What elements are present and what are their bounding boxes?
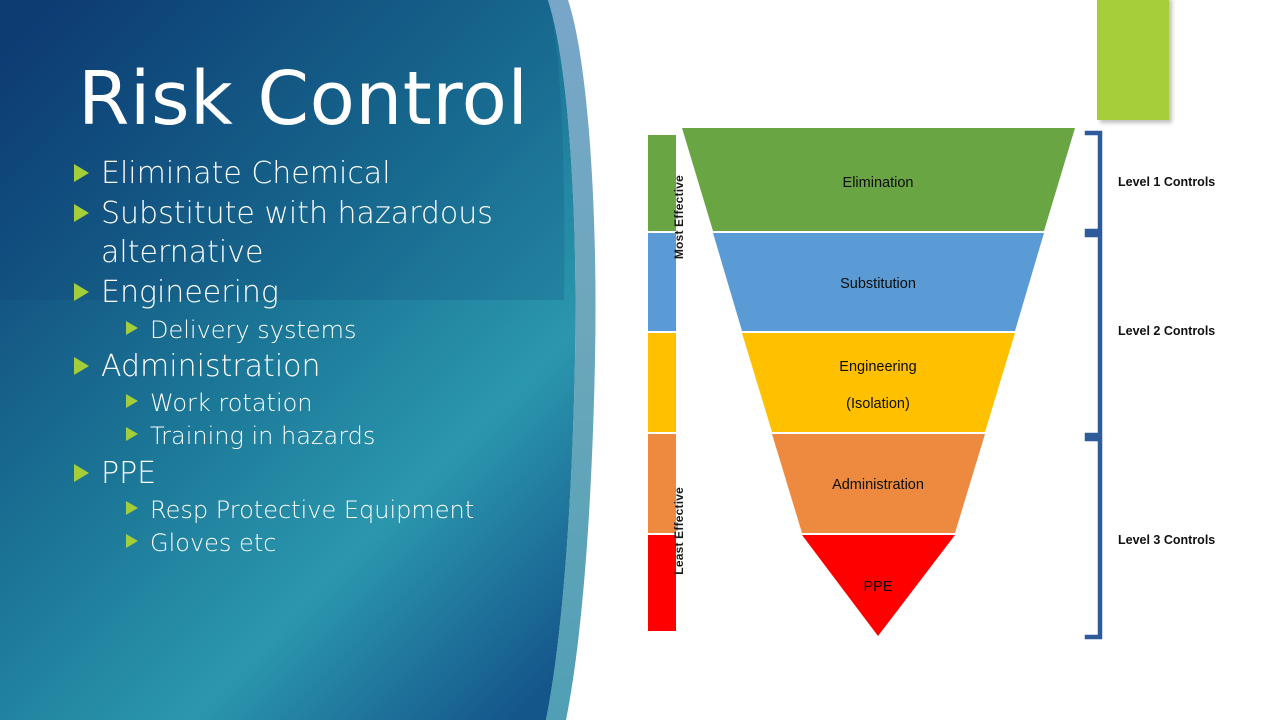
list-item: Training in hazards bbox=[126, 421, 544, 451]
list-item-label: Eliminate Chemical bbox=[101, 155, 391, 193]
list-item: Delivery systems bbox=[126, 315, 544, 345]
triangle-bullet-icon bbox=[126, 534, 138, 548]
level-3-controls-label: Level 3 Controls bbox=[1118, 533, 1215, 547]
pyramid-band-engineering bbox=[742, 333, 1015, 432]
list-item-label: Work rotation bbox=[150, 388, 313, 418]
triangle-bullet-icon bbox=[126, 394, 138, 408]
least-effective-label: Least Effective bbox=[672, 487, 686, 575]
band-label-ppe: PPE bbox=[863, 579, 892, 595]
list-item-label: PPE bbox=[101, 455, 156, 493]
level-2-controls-label: Level 2 Controls bbox=[1118, 324, 1215, 338]
list-item: Engineering bbox=[74, 274, 544, 312]
bracket-level-2 bbox=[1087, 235, 1100, 435]
band-label-engineering-isolation: (Isolation) bbox=[846, 396, 910, 412]
list-item: Work rotation bbox=[126, 388, 544, 418]
triangle-bullet-icon bbox=[126, 321, 138, 335]
pyramid-bands bbox=[682, 128, 1075, 636]
triangle-bullet-icon bbox=[74, 204, 89, 222]
bullet-list: Eliminate Chemical Substitute with hazar… bbox=[74, 155, 544, 562]
list-item-label: Delivery systems bbox=[150, 315, 357, 345]
list-item-label: Substitute with hazardous alternative bbox=[101, 195, 544, 272]
triangle-bullet-icon bbox=[74, 357, 89, 375]
level-1-controls-label: Level 1 Controls bbox=[1118, 175, 1215, 189]
triangle-bullet-icon bbox=[74, 283, 89, 301]
slide-canvas: Risk Control Eliminate Chemical Substitu… bbox=[0, 0, 1280, 720]
band-label-substitution: Substitution bbox=[840, 276, 916, 292]
list-item-label: Gloves etc bbox=[150, 528, 276, 558]
page-title: Risk Control bbox=[78, 62, 528, 136]
band-label-elimination: Elimination bbox=[843, 175, 914, 191]
list-item: Gloves etc bbox=[126, 528, 544, 558]
list-item-label: Engineering bbox=[101, 274, 279, 312]
triangle-bullet-icon bbox=[126, 427, 138, 441]
list-item: Eliminate Chemical bbox=[74, 155, 544, 193]
band-label-administration: Administration bbox=[832, 477, 924, 493]
bracket-level-3 bbox=[1087, 439, 1100, 637]
triangle-bullet-icon bbox=[126, 501, 138, 515]
list-item-label: Resp Protective Equipment bbox=[150, 495, 474, 525]
list-item-label: Administration bbox=[101, 348, 321, 386]
level-brackets bbox=[1087, 133, 1100, 637]
list-item-label: Training in hazards bbox=[150, 421, 375, 451]
list-item: Substitute with hazardous alternative bbox=[74, 195, 544, 272]
list-item: Administration bbox=[74, 348, 544, 386]
band-label-engineering: Engineering bbox=[839, 359, 916, 375]
list-item: Resp Protective Equipment bbox=[126, 495, 544, 525]
triangle-bullet-icon bbox=[74, 464, 89, 482]
hierarchy-of-controls-diagram bbox=[600, 0, 1280, 720]
list-item: PPE bbox=[74, 455, 544, 493]
triangle-bullet-icon bbox=[74, 164, 89, 182]
bracket-level-1 bbox=[1087, 133, 1100, 231]
most-effective-label: Most Effective bbox=[672, 175, 686, 259]
